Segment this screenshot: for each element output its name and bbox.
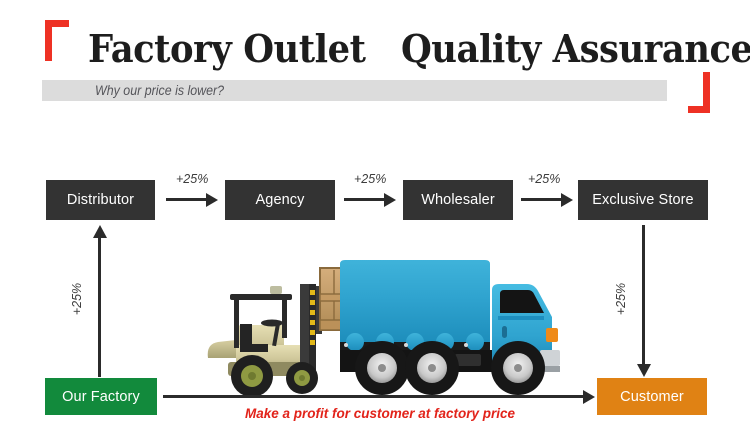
arrow-label-distributor-to-agency: +25% xyxy=(176,172,208,186)
node-distributor: Distributor xyxy=(46,180,155,220)
bottom-right-corner-mark-icon xyxy=(688,72,710,113)
arrow-shaft xyxy=(166,198,206,201)
tagline-text: Make a profit for customer at factory pr… xyxy=(200,406,560,421)
logistics-illustration-svg xyxy=(200,250,560,405)
top-left-corner-mark-icon xyxy=(45,20,69,61)
arrow-shaft xyxy=(344,198,384,201)
arrow-label-agency-to-wholesaler: +25% xyxy=(354,172,386,186)
node-exclusive-store-label: Exclusive Store xyxy=(592,192,693,208)
arrow-shaft xyxy=(98,235,101,377)
node-agency: Agency xyxy=(225,180,335,220)
node-wholesaler: Wholesaler xyxy=(403,180,513,220)
arrow-label-exclusive-store-to-customer: +25% xyxy=(614,279,628,319)
node-distributor-label: Distributor xyxy=(67,192,134,208)
arrow-head-icon xyxy=(384,193,396,207)
arrow-distributor-to-agency xyxy=(166,193,218,207)
arrow-agency-to-wholesaler xyxy=(344,193,396,207)
node-wholesaler-label: Wholesaler xyxy=(421,192,495,208)
node-agency-label: Agency xyxy=(256,192,305,208)
truck-wheel xyxy=(355,341,409,395)
node-our-factory-label: Our Factory xyxy=(62,389,140,405)
arrow-factory-to-customer xyxy=(163,390,595,404)
node-exclusive-store: Exclusive Store xyxy=(578,180,708,220)
arrow-label-wholesaler-to-exclusive-store: +25% xyxy=(528,172,560,186)
delivery-truck-icon xyxy=(340,260,560,395)
arrow-exclusive-store-to-customer xyxy=(637,225,651,377)
subtitle-text: Why our price is lower? xyxy=(95,80,224,101)
arrow-shaft xyxy=(163,395,583,398)
arrow-head-icon xyxy=(206,193,218,207)
arrow-factory-to-distributor xyxy=(93,225,107,377)
factory-outlet-infographic: Factory Outlet Quality Assurance Why our… xyxy=(0,0,750,445)
arrow-wholesaler-to-exclusive-store xyxy=(521,193,573,207)
node-customer: Customer xyxy=(597,378,707,415)
node-customer-label: Customer xyxy=(620,389,684,405)
arrow-shaft xyxy=(521,198,561,201)
arrow-shaft xyxy=(642,225,645,367)
node-our-factory: Our Factory xyxy=(45,378,157,415)
arrow-head-icon xyxy=(561,193,573,207)
page-title: Factory Outlet Quality Assurance xyxy=(88,24,646,74)
arrow-head-icon xyxy=(583,390,595,404)
truck-wheel xyxy=(405,341,459,395)
logistics-illustration xyxy=(200,250,560,405)
arrow-head-icon xyxy=(637,364,651,377)
truck-wheel xyxy=(491,341,545,395)
arrow-label-factory-to-distributor: +25% xyxy=(70,279,84,319)
